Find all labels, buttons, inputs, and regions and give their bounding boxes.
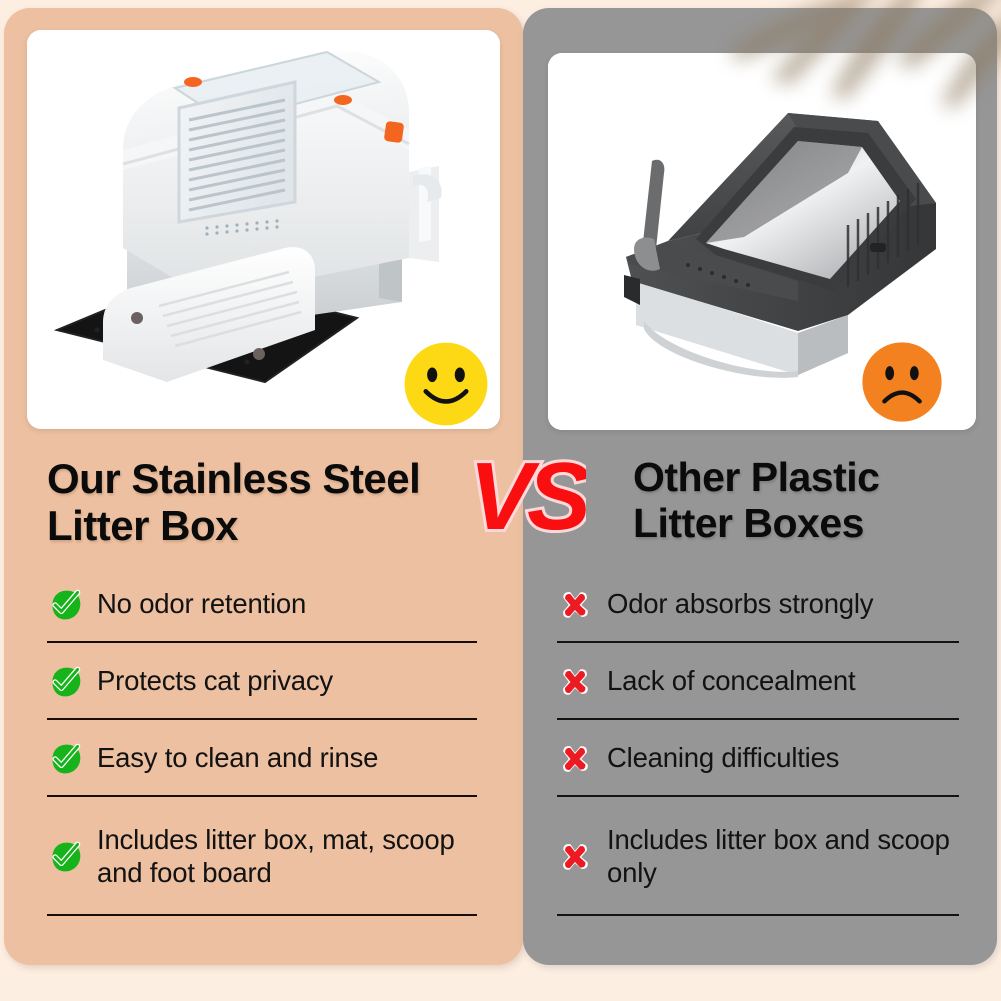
list-item: Easy to clean and rinse bbox=[47, 732, 477, 795]
divider bbox=[557, 795, 959, 797]
comparison-infographic: Our Stainless Steel Litter Box No odor r… bbox=[0, 0, 1001, 1001]
list-item: Lack of concealment bbox=[557, 655, 959, 718]
left-feature-list: No odor retention Protects cat privacy bbox=[47, 578, 477, 928]
divider bbox=[557, 914, 959, 916]
left-heading-line2: Litter Box bbox=[47, 502, 467, 549]
divider bbox=[557, 641, 959, 643]
list-item: Includes litter box and scoop only bbox=[557, 809, 959, 914]
list-item: Protects cat privacy bbox=[47, 655, 477, 718]
list-item-label: Lack of concealment bbox=[607, 665, 855, 697]
check-mark-icon bbox=[47, 741, 83, 777]
cross-mark-icon bbox=[557, 839, 593, 875]
vs-badge: VS bbox=[468, 447, 586, 552]
right-feature-list: Odor absorbs strongly Lack of concealmen… bbox=[557, 578, 959, 928]
list-item-label: Odor absorbs strongly bbox=[607, 588, 873, 620]
list-item-label: No odor retention bbox=[97, 588, 306, 620]
list-item: Odor absorbs strongly bbox=[557, 578, 959, 641]
divider bbox=[47, 795, 477, 797]
right-heading-line1: Other Plastic bbox=[633, 455, 973, 501]
divider bbox=[47, 641, 477, 643]
divider bbox=[557, 718, 959, 720]
list-item-label: Includes litter box, mat, scoop and foot… bbox=[97, 824, 477, 889]
list-item-label: Easy to clean and rinse bbox=[97, 742, 378, 774]
list-item-label: Protects cat privacy bbox=[97, 665, 333, 697]
cross-mark-icon bbox=[557, 587, 593, 623]
left-heading-line1: Our Stainless Steel bbox=[47, 455, 467, 502]
list-item-label: Includes litter box and scoop only bbox=[607, 824, 959, 889]
right-heading: Other Plastic Litter Boxes bbox=[633, 455, 973, 547]
list-item: Includes litter box, mat, scoop and foot… bbox=[47, 809, 477, 914]
list-item: Cleaning difficulties bbox=[557, 732, 959, 795]
right-heading-line2: Litter Boxes bbox=[633, 501, 973, 547]
cross-mark-icon bbox=[557, 664, 593, 700]
sad-face-icon bbox=[858, 338, 946, 426]
divider bbox=[47, 914, 477, 916]
divider bbox=[47, 718, 477, 720]
happy-face-icon bbox=[400, 338, 492, 430]
cross-mark-icon bbox=[557, 741, 593, 777]
list-item-label: Cleaning difficulties bbox=[607, 742, 839, 774]
check-mark-icon bbox=[47, 587, 83, 623]
check-mark-icon bbox=[47, 839, 83, 875]
vs-label: VS bbox=[469, 447, 586, 550]
list-item: No odor retention bbox=[47, 578, 477, 641]
check-mark-icon bbox=[47, 664, 83, 700]
left-heading: Our Stainless Steel Litter Box bbox=[47, 455, 467, 549]
